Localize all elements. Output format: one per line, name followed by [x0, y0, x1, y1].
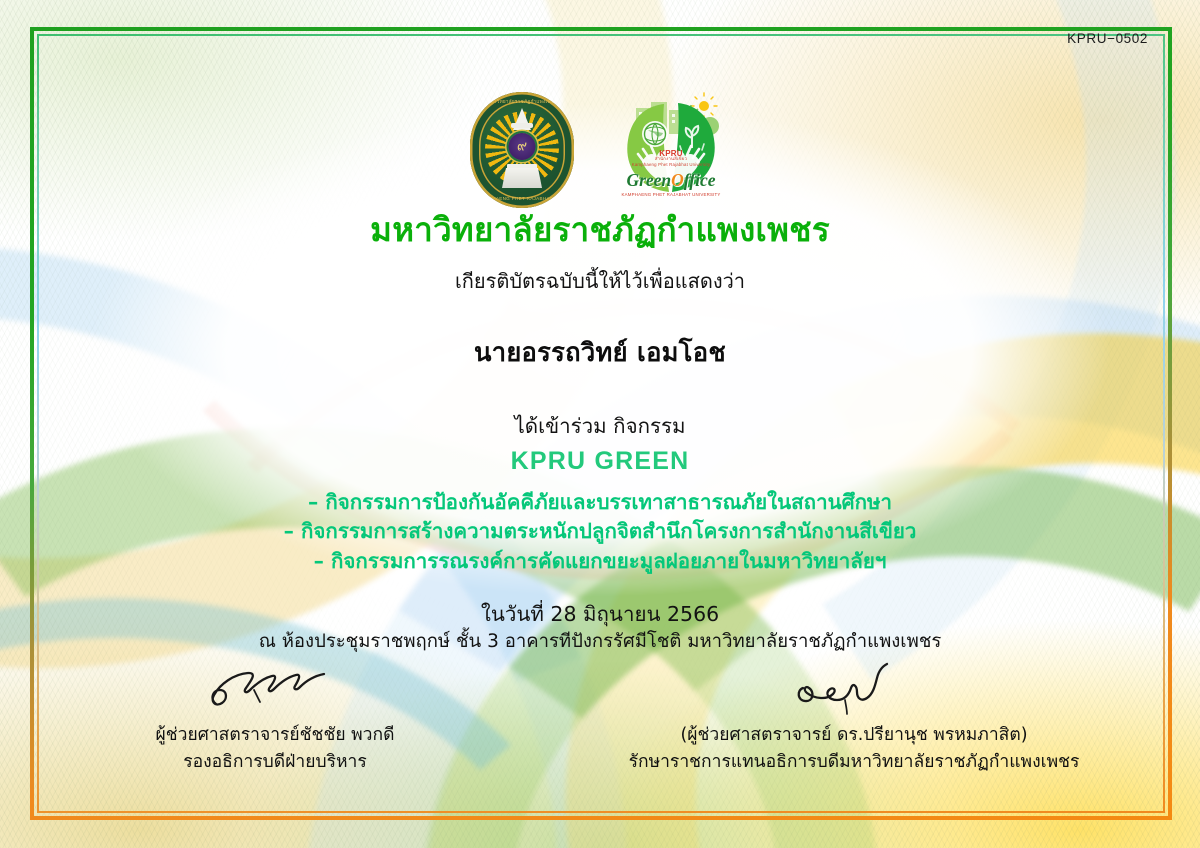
seal-center-glyph: ๙ — [517, 139, 527, 153]
activity-list: – กิจกรรมการป้องกันอัคคีภัยและบรรเทาสาธา… — [60, 488, 1140, 576]
seal-ring-text-bottom: KAMPHAENG PHET RAJABHAT UNIVERSITY — [478, 196, 566, 201]
seal-pagoda-tier-icon — [511, 123, 533, 128]
handwritten-signature-left-icon — [200, 660, 350, 718]
kpru-university-seal-icon: มหาวิทยาลัยราชภัฏกำแพงเพชร ๙ KAMPHAENG P… — [470, 92, 574, 208]
signature-mark-right — [554, 660, 1154, 722]
event-venue-line: ณ ห้องประชุมราชพฤกษ์ ชั้น 3 อาคารทีปังกร… — [60, 627, 1140, 656]
certificate-document: KPRU−0502 มหาวิทยาลัยราชภัฏกำแพงเพชร ๙ K… — [0, 0, 1200, 848]
seal-ring-text-top: มหาวิทยาลัยราชภัฏกำแพงเพชร — [478, 99, 566, 106]
signature-block-right: (ผู้ช่วยศาสตราจารย์ ดร.ปรียานุช พรหมภาสิ… — [554, 660, 1154, 776]
activity-list-item: – กิจกรรมการป้องกันอัคคีภัยและบรรเทาสาธา… — [60, 488, 1140, 517]
activity-program-title: KPRU GREEN — [60, 447, 1140, 476]
activity-list-item: – กิจกรรมการรณรงค์การคัดแยกขยะมูลฝอยภายใ… — [60, 547, 1140, 576]
seal-pedestal-icon — [502, 168, 542, 188]
signature-name-left: ผู้ช่วยศาสตราจารย์ชัชชัย พวกดี — [60, 722, 490, 749]
lead-line: เกียรติบัตรฉบับนี้ให้ไว้เพื่อแสดงว่า — [60, 268, 1140, 295]
signature-block-left: ผู้ช่วยศาสตราจารย์ชัชชัย พวกดี รองอธิการ… — [60, 660, 490, 776]
organization-title: มหาวิทยาลัยราชภัฏกำแพงเพชร — [60, 210, 1140, 250]
seal-center-disc-icon: ๙ — [509, 133, 536, 160]
signature-role-right: รักษาราชการแทนอธิการบดีมหาวิทยาลัยราชภัฏ… — [554, 749, 1154, 776]
signature-row: ผู้ช่วยศาสตราจารย์ชัชชัย พวกดี รองอธิการ… — [60, 660, 1154, 776]
logo-row: มหาวิทยาลัยราชภัฏกำแพงเพชร ๙ KAMPHAENG P… — [0, 92, 1200, 208]
signature-role-left: รองอธิการบดีฝ่ายบริหาร — [60, 749, 490, 776]
green-office-subtitle: KAMPHAENG PHET RAJABHAT UNIVERSITY — [612, 192, 730, 197]
green-office-wordmark: GreenOffice — [612, 172, 730, 190]
green-office-kpru-text: KPRU สำนักงานสีเขียว Kamphaeng Phet Raja… — [612, 150, 730, 167]
signature-mark-left — [60, 660, 490, 722]
recipient-name: นายอรรถวิทย์ เอมโอช — [60, 333, 1140, 373]
signature-name-right: (ผู้ช่วยศาสตราจารย์ ดร.ปรียานุช พรหมภาสิ… — [554, 722, 1154, 749]
activity-list-item: – กิจกรรมการสร้างความตระหนักปลูกจิตสำนึก… — [60, 517, 1140, 546]
joined-label: ได้เข้าร่วม กิจกรรม — [60, 410, 1140, 443]
handwritten-signature-right-icon — [789, 660, 919, 718]
document-code: KPRU−0502 — [1067, 31, 1148, 46]
green-office-logo-icon: KPRU สำนักงานสีเขียว Kamphaeng Phet Raja… — [612, 92, 730, 202]
